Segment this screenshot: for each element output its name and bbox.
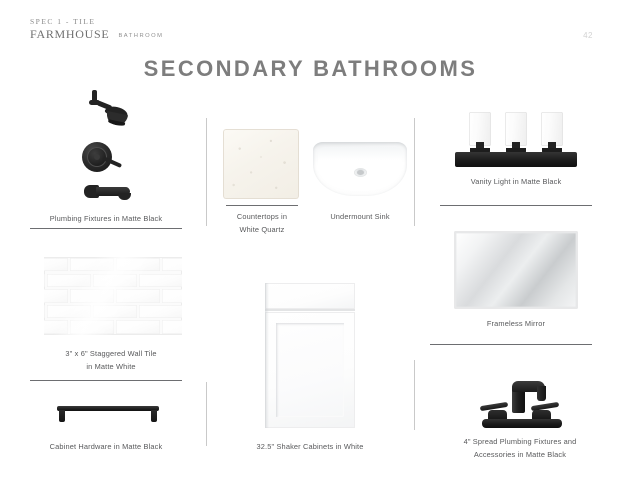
caption-spread-plumbing: 4" Spread Plumbing Fixtures and Accessor… xyxy=(425,436,615,462)
rule-countertops xyxy=(226,205,298,206)
shaker-cabinets-image xyxy=(265,283,355,428)
cabinet-hardware-image xyxy=(57,401,159,425)
rule-wall-tile xyxy=(30,380,182,381)
header-brand: SPEC 1 - TILE FARMHOUSE xyxy=(30,18,109,41)
rule-frameless-mirror xyxy=(430,344,592,345)
page-title: SECONDARY BATHROOMS xyxy=(0,56,621,82)
column-divider-right xyxy=(414,118,415,226)
column-divider-left xyxy=(206,118,207,226)
caption-countertops-line2: White Quartz xyxy=(216,224,308,237)
caption-countertops-line1: Countertops in xyxy=(216,211,308,224)
frameless-mirror-image xyxy=(455,232,577,308)
wall-tile-image xyxy=(44,257,182,335)
caption-shaker-cabinets: 32.5" Shaker Cabinets in White xyxy=(240,441,380,454)
plumbing-fixtures-image xyxy=(56,86,148,202)
countertops-image xyxy=(223,129,299,199)
board-header: SPEC 1 - TILE FARMHOUSE BATHROOM xyxy=(30,18,164,41)
caption-wall-tile: 3" x 6" Staggered Wall Tile in Matte Whi… xyxy=(24,348,198,374)
rule-vanity-light xyxy=(440,205,592,206)
undermount-sink-image xyxy=(313,142,407,198)
caption-spread-plumbing-line1: 4" Spread Plumbing Fixtures and xyxy=(425,436,615,449)
vanity-light-image xyxy=(455,112,577,168)
room-label: BATHROOM xyxy=(118,33,163,41)
column-divider-left-lower xyxy=(206,382,207,446)
spread-plumbing-image xyxy=(476,378,572,430)
project-name: FARMHOUSE xyxy=(30,27,109,41)
caption-wall-tile-line1: 3" x 6" Staggered Wall Tile xyxy=(24,348,198,361)
page-number: 42 xyxy=(583,31,593,40)
caption-vanity-light: Vanity Light in Matte Black xyxy=(440,176,592,189)
caption-cabinet-hardware: Cabinet Hardware in Matte Black xyxy=(20,441,192,454)
rule-plumbing-fixtures xyxy=(30,228,182,229)
spec-label: SPEC 1 - TILE xyxy=(30,18,109,27)
column-divider-right-lower xyxy=(414,360,415,430)
caption-spread-plumbing-line2: Accessories in Matte Black xyxy=(425,449,615,462)
caption-undermount-sink: Undermount Sink xyxy=(310,211,410,224)
caption-wall-tile-line2: in Matte White xyxy=(24,361,198,374)
spec-board: SPEC 1 - TILE FARMHOUSE BATHROOM 42 SECO… xyxy=(0,0,621,480)
caption-countertops: Countertops in White Quartz xyxy=(216,211,308,237)
caption-frameless-mirror: Frameless Mirror xyxy=(440,318,592,331)
caption-plumbing-fixtures: Plumbing Fixtures in Matte Black xyxy=(20,213,192,226)
